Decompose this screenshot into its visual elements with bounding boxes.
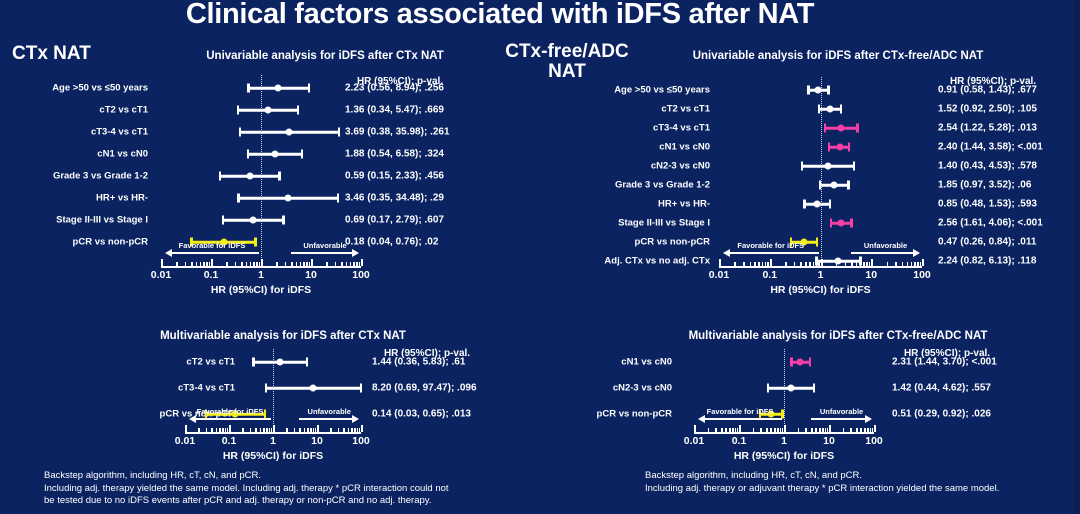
ci-upper-cap [338,128,341,137]
axis-major-tick [211,259,213,266]
point-estimate-marker [813,201,820,208]
hr-value-text: 2.56 (1.61, 4.06); <.001 [938,218,1043,229]
axis-minor-tick [335,262,337,266]
axis-minor-tick [200,262,202,266]
favorable-arrow-line [705,418,782,420]
hr-value-text: 0.59 (0.15, 2.33); .456 [345,171,444,182]
ci-lower-cap [830,219,833,228]
axis-minor-tick [816,262,818,266]
hr-value-text: 1.36 (0.34, 5.47); .669 [345,105,444,116]
axis-minor-tick [196,262,198,266]
axis-major-tick [311,259,313,266]
x-axis-title-multi-ctx: HR (95%CI) for iDFS [223,450,323,462]
axis-tick-label: 0.1 [732,435,747,447]
row-label: Age >50 vs ≤50 years [0,83,148,94]
axis-minor-tick [725,428,727,432]
axis-minor-tick [307,428,309,432]
axis-major-tick [361,425,363,432]
axis-minor-tick [253,262,255,266]
ci-upper-cap [809,358,812,367]
ci-upper-cap [360,384,363,393]
hr-value-text: 3.69 (0.38, 35.98); .261 [345,127,450,138]
axis-minor-tick [750,262,752,266]
point-estimate-marker [276,359,283,366]
ci-lower-cap [828,143,831,152]
hr-value-text: 0.91 (0.58, 1.43); .677 [938,85,1037,96]
point-estimate-marker [787,385,794,392]
axis-minor-tick [735,428,737,432]
page-title: Clinical factors associated with iDFS af… [0,0,1000,31]
point-estimate-marker [271,151,278,158]
unfavorable-arrow-label: Unfavorable [820,407,863,416]
favorable-arrow-line [172,252,259,254]
axis-minor-tick [326,262,328,266]
axis-minor-tick [762,262,764,266]
axis-minor-tick [721,428,723,432]
axis-major-tick [821,259,823,266]
row-label: cN1 vs cN0 [0,149,148,160]
axis-minor-tick [353,262,355,266]
ci-upper-cap [301,150,304,159]
unfavorable-arrow-head [913,249,920,257]
slide-canvas: Clinical factors associated with iDFS af… [0,0,1080,514]
axis-minor-tick [286,428,288,432]
axis-minor-tick [851,262,853,266]
axis-minor-tick [800,262,802,266]
unfavorable-arrow-line [299,418,352,420]
x-axis-line-multi-ctx [185,432,361,434]
axis-minor-tick [356,262,358,266]
ci-upper-cap [816,238,819,247]
axis-minor-tick [767,262,769,266]
hr-value-text: 1.52 (0.92, 2.50); .105 [938,104,1037,115]
point-estimate-marker [836,144,843,151]
ci-upper-cap [827,86,830,95]
point-estimate-marker [249,217,256,224]
point-estimate-marker [797,359,804,366]
axis-minor-tick [869,262,871,266]
ci-lower-cap [252,358,255,367]
axis-minor-tick [176,262,178,266]
null-reference-line-uni-ctx [261,75,262,266]
point-estimate-marker [286,129,293,136]
ci-upper-cap [308,84,311,93]
point-estimate-marker [246,173,253,180]
axis-minor-tick [185,262,187,266]
ci-lower-cap [819,181,822,190]
point-estimate-marker [264,107,271,114]
hr-value-text: 0.85 (0.48, 1.53); .593 [938,199,1037,210]
axis-major-tick [922,259,924,266]
axis-minor-tick [310,428,312,432]
axis-minor-tick [770,428,772,432]
axis-major-tick [273,425,275,432]
unfavorable-arrow-line [291,252,352,254]
favorable-arrow-label: Favorable for iDFS [737,241,804,250]
row-label: Grade 3 vs Grade 1-2 [0,171,148,182]
hr-value-text: 1.40 (0.43, 4.53); .578 [938,161,1037,172]
axis-tick-label: 1 [258,269,264,281]
axis-minor-tick [895,262,897,266]
axis-minor-tick [219,428,221,432]
axis-minor-tick [760,428,762,432]
ci-upper-cap [282,216,285,225]
ci-lower-cap [265,384,268,393]
axis-minor-tick [907,262,909,266]
ci-lower-cap [219,172,222,181]
axis-major-tick [229,425,231,432]
point-estimate-marker [824,163,831,170]
axis-tick-label: 100 [352,269,370,281]
row-label: cN1 vs cN0 [450,142,710,153]
axis-minor-tick [346,262,348,266]
axis-minor-tick [294,428,296,432]
hr-value-text: 0.18 (0.04, 0.76); .02 [345,237,438,248]
ci-upper-cap [297,106,300,115]
axis-minor-tick [754,262,756,266]
axis-tick-label: 10 [305,269,317,281]
ci-lower-cap [803,200,806,209]
ci-lower-cap [801,162,804,171]
null-reference-line-uni-adc [821,77,822,266]
axis-minor-tick [887,262,889,266]
axis-tick-label: 0.01 [684,435,704,447]
axis-minor-tick [263,428,265,432]
axis-minor-tick [285,262,287,266]
row-label: cN2-3 vs cN0 [450,161,710,172]
ci-lower-cap [247,84,250,93]
row-label: cT3-4 vs cT1 [0,383,235,394]
ci-lower-cap [807,86,810,95]
x-axis-title-multi-adc: HR (95%CI) for iDFS [734,450,834,462]
point-estimate-marker [826,106,833,113]
hr-value-text: 0.51 (0.29, 0.92); .026 [892,409,991,420]
axis-minor-tick [729,428,731,432]
ci-lower-cap [767,384,770,393]
axis-minor-tick [774,428,776,432]
ci-lower-cap [237,106,240,115]
ci-upper-cap [848,143,851,152]
axis-minor-tick [211,428,213,432]
hr-value-text: 2.31 (1.44, 3.70); <.001 [892,357,997,368]
axis-minor-tick [920,262,922,266]
axis-minor-tick [241,262,243,266]
section-title-uni-ctx: Univariable analysis for iDFS after CTx … [105,50,545,62]
ci-upper-cap [829,200,832,209]
hr-value-text: 0.47 (0.26, 0.84); .011 [938,237,1036,248]
axis-minor-tick [304,428,306,432]
axis-minor-tick [914,262,916,266]
x-axis-line-uni-ctx [161,266,361,268]
axis-tick-label: 0.1 [762,269,777,281]
axis-minor-tick [256,262,258,266]
ci-upper-cap [306,358,309,367]
ci-lower-cap [790,358,793,367]
axis-minor-tick [798,428,800,432]
axis-minor-tick [351,428,353,432]
ci-upper-cap [850,219,853,228]
ci-upper-cap [337,194,340,203]
section-title-multi-ctx: Multivariable analysis for iDFS after CT… [63,330,503,342]
axis-minor-tick [753,428,755,432]
axis-minor-tick [818,262,820,266]
axis-minor-tick [805,262,807,266]
axis-minor-tick [777,428,779,432]
favorable-arrow-head [698,415,705,423]
axis-minor-tick [825,428,827,432]
axis-minor-tick [226,262,228,266]
row-label: Grade 3 vs Grade 1-2 [450,180,710,191]
axis-minor-tick [246,262,248,266]
axis-major-tick [694,425,696,432]
hr-value-text: 2.40 (1.44, 3.58); <.001 [938,142,1043,153]
axis-minor-tick [300,262,302,266]
row-label: pCR vs non-pCR [450,237,710,248]
x-axis-line-uni-adc [719,266,922,268]
unfavorable-arrow-head [865,415,872,423]
ci-upper-cap [254,238,257,247]
ci-lower-cap [239,128,242,137]
axis-tick-label: 100 [865,435,883,447]
axis-major-tick [874,425,876,432]
row-label: cN2-3 vs cN0 [412,383,672,394]
point-estimate-marker [838,125,845,132]
row-label: cT2 vs cT1 [0,105,148,116]
axis-minor-tick [296,262,298,266]
axis-minor-tick [743,262,745,266]
point-estimate-marker [310,385,317,392]
axis-minor-tick [715,428,717,432]
row-label: pCR vs non-pCR [0,237,148,248]
axis-minor-tick [309,262,311,266]
null-reference-line-multi-adc [784,349,785,432]
axis-minor-tick [867,428,869,432]
ci-lower-cap [824,124,827,133]
axis-minor-tick [813,262,815,266]
ci-lower-cap [247,150,250,159]
axis-minor-tick [354,428,356,432]
axis-minor-tick [734,262,736,266]
axis-minor-tick [235,262,237,266]
favorable-arrow-line [730,252,819,254]
axis-tick-label: 0.01 [151,269,171,281]
axis-tick-label: 10 [311,435,323,447]
row-label: Age >50 vs ≤50 years [450,85,710,96]
row-label: cT3-4 vs cT1 [0,127,148,138]
ci-lower-cap [818,105,821,114]
axis-minor-tick [306,262,308,266]
axis-minor-tick [348,428,350,432]
axis-major-tick [361,259,363,266]
axis-minor-tick [819,428,821,432]
hr-value-text: 1.88 (0.54, 6.58); .324 [345,149,444,160]
axis-minor-tick [785,262,787,266]
row-label: HR+ vs HR- [0,193,148,204]
axis-minor-tick [708,428,710,432]
axis-major-tick [829,425,831,432]
point-estimate-marker [284,195,291,202]
axis-major-tick [161,259,163,266]
axis-tick-label: 100 [913,269,931,281]
ci-upper-cap [278,172,281,181]
row-label: Adj. CTx vs no adj. CTx [450,256,710,267]
axis-minor-tick [250,428,252,432]
favorable-arrow-head [165,249,172,257]
axis-minor-tick [343,428,345,432]
point-estimate-marker [838,220,845,227]
x-axis-line-multi-adc [694,432,874,434]
ci-upper-cap [856,124,859,133]
axis-minor-tick [911,262,913,266]
axis-minor-tick [765,262,767,266]
axis-minor-tick [216,428,218,432]
axis-minor-tick [303,262,305,266]
axis-minor-tick [330,428,332,432]
axis-minor-tick [902,262,904,266]
axis-tick-label: 0.01 [175,435,195,447]
favorable-arrow-line [196,418,271,420]
row-label: pCR vs non-pCR [412,409,672,420]
row-label: Stage II-III vs Stage I [450,218,710,229]
axis-minor-tick [191,262,193,266]
axis-minor-tick [732,428,734,432]
axis-tick-label: 0.01 [709,269,729,281]
axis-major-tick [770,259,772,266]
axis-tick-label: 1 [270,435,276,447]
axis-minor-tick [260,428,262,432]
axis-minor-tick [242,428,244,432]
section-title-multi-adc: Multivariable analysis for iDFS after CT… [618,330,1058,342]
favorable-arrow-head [189,415,196,423]
footnote-left: Backstep algorithm, including HR, cT, cN… [44,470,564,508]
axis-minor-tick [809,262,811,266]
unfavorable-arrow-label: Unfavorable [303,241,346,250]
axis-minor-tick [856,262,858,266]
axis-minor-tick [259,262,261,266]
axis-minor-tick [299,428,301,432]
axis-minor-tick [870,428,872,432]
ci-upper-cap [840,105,843,114]
axis-minor-tick [866,262,868,266]
axis-minor-tick [780,428,782,432]
axis-minor-tick [338,428,340,432]
x-axis-title-uni-ctx: HR (95%CI) for iDFS [211,284,311,296]
footnote-right: Backstep algorithm, including HR, cT, cN… [645,470,1075,495]
unfavorable-arrow-label: Unfavorable [864,241,907,250]
axis-minor-tick [206,262,208,266]
axis-major-tick [739,425,741,432]
axis-minor-tick [209,262,211,266]
row-label: HR+ vs HR- [450,199,710,210]
axis-tick-label: 1 [818,269,824,281]
ci-upper-cap [813,384,816,393]
unfavorable-arrow-head [352,249,359,257]
axis-major-tick [185,425,187,432]
axis-minor-tick [863,262,865,266]
axis-tick-label: 0.1 [222,435,237,447]
axis-minor-tick [766,428,768,432]
hr-value-text: 2.23 (0.56, 8.94); .256 [345,83,444,94]
axis-tick-label: 0.1 [204,269,219,281]
axis-minor-tick [811,428,813,432]
axis-tick-label: 10 [865,269,877,281]
axis-minor-tick [822,428,824,432]
point-estimate-marker [831,182,838,189]
axis-minor-tick [845,262,847,266]
hr-value-text: 2.24 (0.82, 6.13); .118 [938,256,1036,267]
row-label: cT3-4 vs cT1 [450,123,710,134]
axis-minor-tick [359,262,361,266]
axis-major-tick [719,259,721,266]
row-label: cT2 vs cT1 [0,357,235,368]
favorable-arrow-head [723,249,730,257]
hr-value-text: 1.85 (0.97, 3.52); .06 [938,180,1031,191]
row-label: cN1 vs cN0 [412,357,672,368]
axis-minor-tick [341,262,343,266]
axis-minor-tick [255,428,257,432]
axis-minor-tick [203,262,205,266]
axis-minor-tick [860,428,862,432]
favorable-arrow-label: Favorable for iDFS [197,407,264,416]
point-estimate-marker [275,85,282,92]
axis-minor-tick [250,262,252,266]
axis-minor-tick [291,262,293,266]
ci-lower-cap [222,216,225,225]
axis-minor-tick [917,262,919,266]
slide-right-edge [1074,0,1080,514]
axis-minor-tick [222,428,224,432]
axis-minor-tick [836,262,838,266]
x-axis-title-uni-adc: HR (95%CI) for iDFS [770,284,870,296]
point-estimate-marker [815,87,822,94]
axis-tick-label: 10 [823,435,835,447]
axis-minor-tick [860,262,862,266]
axis-major-tick [871,259,873,266]
axis-minor-tick [805,428,807,432]
axis-minor-tick [843,428,845,432]
favorable-arrow-label: Favorable for iDFS [179,241,246,250]
axis-major-tick [317,425,319,432]
row-label: Stage II-III vs Stage I [0,215,148,226]
axis-minor-tick [850,428,852,432]
unfavorable-arrow-label: Unfavorable [308,407,351,416]
axis-major-tick [784,425,786,432]
unfavorable-arrow-line [851,252,913,254]
hr-value-text: 3.46 (0.35, 34.48); .29 [345,193,444,204]
ci-upper-cap [853,162,856,171]
axis-minor-tick [815,428,817,432]
axis-minor-tick [350,262,352,266]
axis-minor-tick [206,428,208,432]
hr-value-text: 0.69 (0.17, 2.79); .607 [345,215,444,226]
axis-minor-tick [864,428,866,432]
ci-lower-cap [237,194,240,203]
ci-upper-cap [847,181,850,190]
axis-tick-label: 100 [352,435,370,447]
axis-minor-tick [758,262,760,266]
row-label: cT2 vs cT1 [450,104,710,115]
unfavorable-arrow-head [352,415,359,423]
hr-value-text: 1.42 (0.44, 4.62); .557 [892,383,991,394]
hr-value-text: 2.54 (1.22, 5.28); .013 [938,123,1037,134]
axis-minor-tick [856,428,858,432]
section-title-uni-adc: Univariable analysis for iDFS after CTx-… [618,50,1058,62]
axis-tick-label: 1 [781,435,787,447]
favorable-arrow-label: Favorable for iDFS [707,407,774,416]
axis-minor-tick [276,262,278,266]
axis-minor-tick [198,428,200,432]
axis-minor-tick [266,428,268,432]
